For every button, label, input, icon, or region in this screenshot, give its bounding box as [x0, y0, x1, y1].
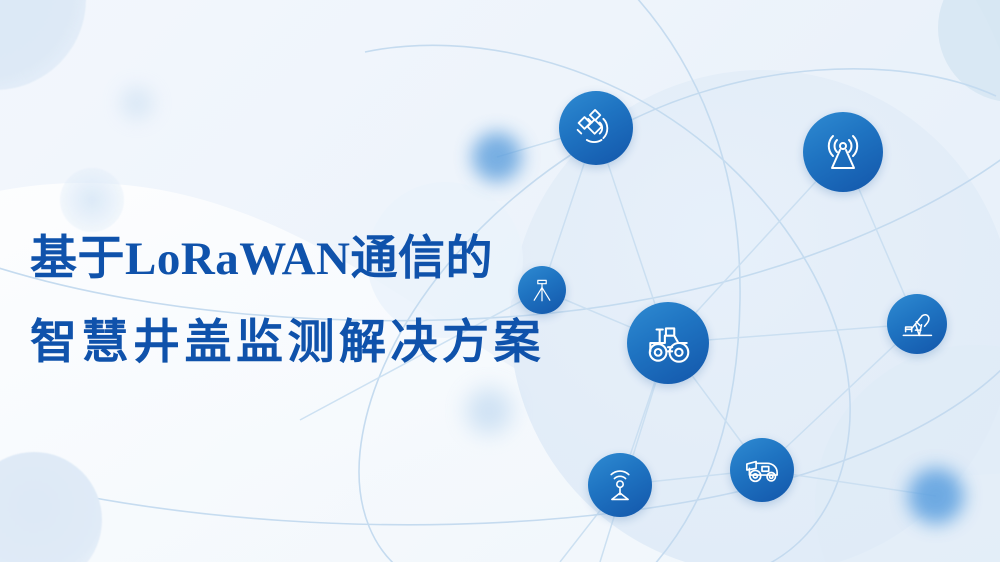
antenna-beacon-icon: [600, 465, 640, 505]
node-oil-pumpjack[interactable]: [887, 294, 947, 354]
node-harvester[interactable]: [730, 438, 794, 502]
soft-blob-top-left: [0, 0, 86, 90]
accent-dot-upper-middle: [472, 132, 522, 182]
node-radio-tower[interactable]: [803, 112, 883, 192]
title-line-1: 基于LoRaWAN通信的: [30, 228, 545, 290]
soft-blob-bottom-left: [0, 452, 102, 562]
title-line-2: 智慧井盖监测解决方案: [30, 312, 545, 374]
cover-slide: 基于LoRaWAN通信的 智慧井盖监测解决方案: [0, 0, 1000, 562]
accent-dot-lower-right: [908, 468, 964, 524]
radio-tower-icon: [818, 127, 868, 177]
node-satellite[interactable]: [559, 91, 633, 165]
node-antenna-beacon[interactable]: [588, 453, 652, 517]
tractor-icon: [642, 317, 694, 369]
pale-circle-bottom-right: [815, 345, 1000, 562]
oil-pumpjack-icon: [898, 305, 936, 343]
accent-dot-middle-left: [466, 388, 512, 434]
satellite-signal-icon: [573, 105, 619, 151]
harvester-vehicle-icon: [741, 449, 783, 491]
accent-dot-top-left: [120, 86, 154, 120]
corner-shape-top-right: [962, 0, 1000, 120]
node-tractor[interactable]: [627, 302, 709, 384]
soft-blob-upper-left: [60, 168, 124, 232]
slide-title: 基于LoRaWAN通信的 智慧井盖监测解决方案: [30, 228, 545, 374]
corner-circle-top-right: [938, 0, 1000, 102]
